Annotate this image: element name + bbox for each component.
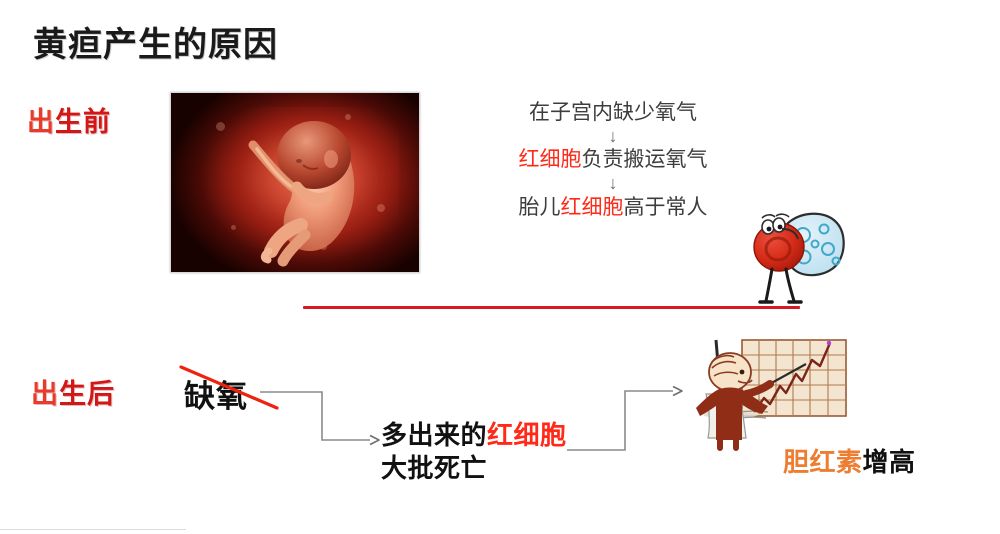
stage-label-before-birth: 出生前 (27, 100, 111, 139)
connector-arrow-1 (258, 380, 388, 455)
flow-step-2: 红细胞负责搬运氧气 (498, 147, 728, 172)
statement-line-1-highlight: 红细胞 (487, 420, 567, 450)
flow-step-2-highlight: 红细胞 (519, 147, 582, 171)
flow-step-3-highlight: 红细胞 (561, 195, 624, 219)
stage-label-before-part2: 生前 (55, 107, 111, 137)
statement-line-1: 多出来的红细胞 (381, 419, 567, 452)
connector-arrow-2 (565, 378, 690, 463)
outcome-highlight: 胆红素 (783, 447, 863, 477)
down-arrow-icon: ↓ (498, 125, 728, 148)
after-birth-statement: 多出来的红细胞 大批死亡 (381, 419, 567, 485)
stage-label-after-part1: 出 (31, 379, 59, 409)
section-divider-rule (303, 306, 800, 309)
fetus-illustration (171, 93, 420, 273)
flow-step-2-rest: 负责搬运氧气 (582, 147, 708, 171)
flow-step-1: 在子宫内缺少氧气 (498, 100, 728, 125)
before-birth-flow-text: 在子宫内缺少氧气 ↓ 红细胞负责搬运氧气 ↓ 胎儿红细胞高于常人 (498, 100, 728, 219)
page-title: 黄疸产生的原因 (33, 17, 278, 66)
statement-line-1-pre: 多出来的 (381, 420, 487, 450)
outcome-label: 胆红素增高 (783, 442, 916, 479)
struck-word-text: 缺氧 (184, 371, 248, 416)
outcome-rest: 增高 (863, 447, 916, 477)
slide-canvas: 黄疸产生的原因 出生前 (0, 0, 1000, 534)
fetus-photo (170, 92, 420, 273)
stage-label-after-birth: 出生后 (31, 372, 115, 411)
flow-step-3-pre: 胎儿 (519, 195, 561, 219)
stage-label-before-part1: 出 (27, 107, 55, 137)
footer-hairline (0, 529, 186, 530)
flow-step-3: 胎儿红细胞高于常人 (498, 195, 728, 220)
flow-step-3-post: 高于常人 (624, 195, 708, 219)
statement-line-2: 大批死亡 (381, 452, 567, 485)
red-blood-cell-character-icon (742, 205, 852, 310)
man-with-rising-chart-icon (676, 336, 856, 451)
stage-label-after-part2: 生后 (59, 379, 115, 409)
down-arrow-icon: ↓ (498, 172, 728, 195)
